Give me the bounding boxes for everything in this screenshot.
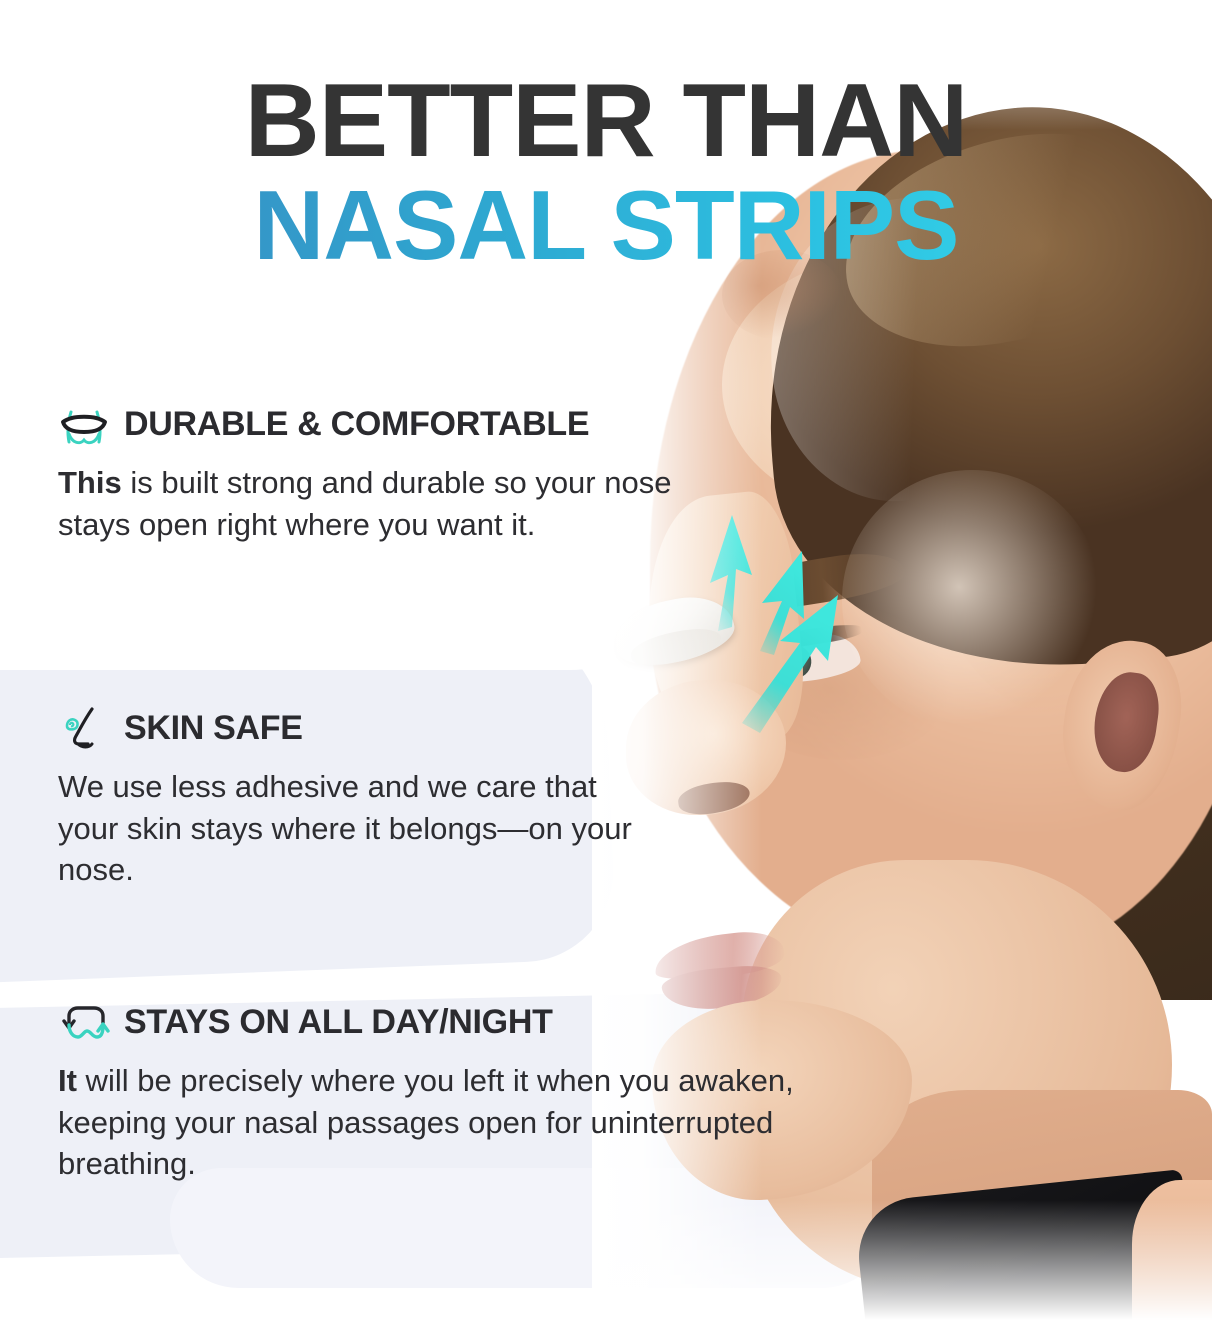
feature-stays-on: STAYS ON ALL DAY/NIGHT It will be precis… — [58, 1000, 818, 1185]
nasal-dilator-icon — [58, 402, 110, 446]
headline-line-1: BETTER THAN — [0, 72, 1212, 172]
feature-heading-row: SKIN SAFE — [58, 706, 658, 750]
feature-heading-row: STAYS ON ALL DAY/NIGHT — [58, 1000, 818, 1044]
headline-line-2: NASAL STRIPS — [0, 176, 1212, 274]
feature-body: This is built strong and durable so your… — [58, 462, 748, 545]
poster-canvas: BETTER THAN NASAL STRIPS DURABLE & COMFO… — [0, 0, 1212, 1320]
feature-durable-comfortable: DURABLE & COMFORTABLE This is built stro… — [58, 402, 748, 545]
feature-body-rest: We use less adhesive and we care that yo… — [58, 769, 632, 887]
feature-body: We use less adhesive and we care that yo… — [58, 766, 658, 891]
feature-body-rest: is built strong and durable so your nose… — [58, 465, 671, 542]
feature-title: SKIN SAFE — [124, 709, 303, 748]
feature-title: STAYS ON ALL DAY/NIGHT — [124, 1003, 553, 1042]
feature-body-lead: This — [58, 465, 122, 500]
feature-heading-row: DURABLE & COMFORTABLE — [58, 402, 748, 446]
all-day-cycle-icon — [58, 1000, 110, 1044]
nose-profile-icon — [58, 706, 110, 750]
feature-body-rest: will be precisely where you left it when… — [58, 1063, 794, 1181]
feature-body-lead: It — [58, 1063, 77, 1098]
feature-body: It will be precisely where you left it w… — [58, 1060, 818, 1185]
headline: BETTER THAN NASAL STRIPS — [0, 72, 1212, 274]
feature-skin-safe: SKIN SAFE We use less adhesive and we ca… — [58, 706, 658, 891]
feature-title: DURABLE & COMFORTABLE — [124, 405, 589, 444]
